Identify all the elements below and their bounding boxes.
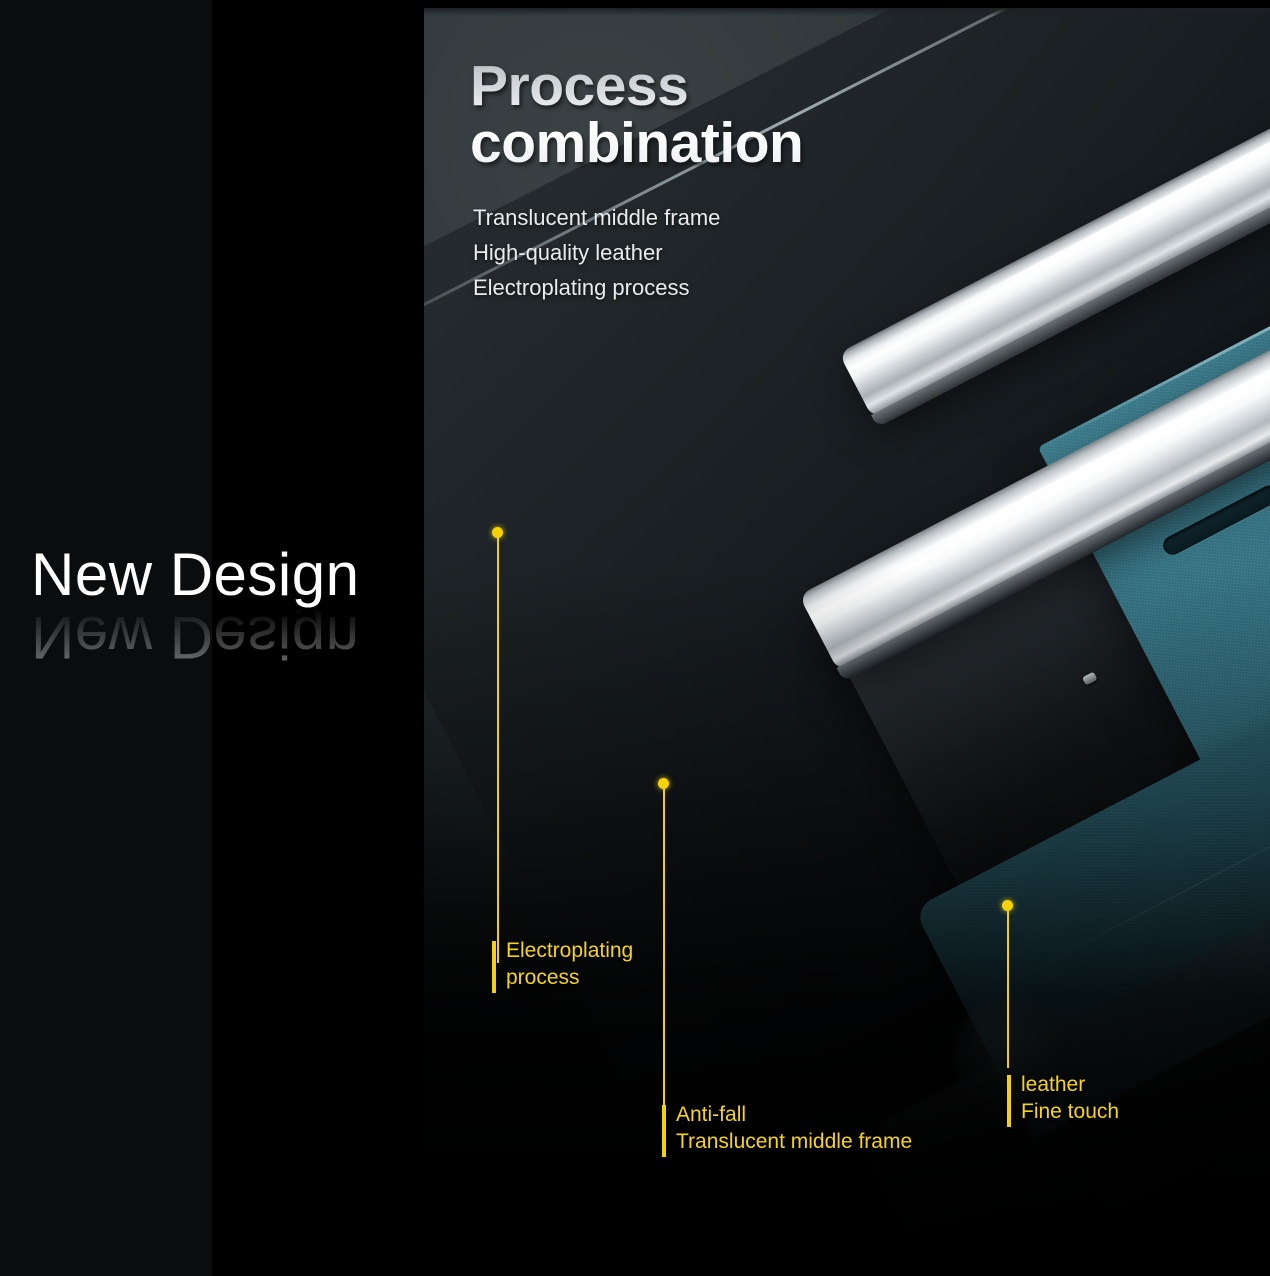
callout-label-leather: leather Fine touch bbox=[1021, 1072, 1119, 1126]
new-design-title-reflection: New Design bbox=[31, 603, 359, 672]
callout-leader-electroplating bbox=[497, 533, 499, 963]
feature-item-0: Translucent middle frame bbox=[473, 200, 893, 235]
callout-leather-line-1: leather bbox=[1021, 1072, 1119, 1099]
callout-anti-fall-line-2: Translucent middle frame bbox=[676, 1129, 912, 1156]
callout-label-anti-fall: Anti-fall Translucent middle frame bbox=[676, 1102, 912, 1156]
product-photo: NEW DESIGN bbox=[424, 8, 1270, 1276]
product-banner: NEW DESIGN Process combination Transluce… bbox=[0, 0, 1270, 1276]
feature-item-2: Electroplating process bbox=[473, 270, 893, 305]
page-title: Process combination bbox=[470, 58, 900, 172]
photo-top-fade bbox=[424, 8, 1270, 16]
feature-list: Translucent middle frame High-quality le… bbox=[473, 200, 893, 306]
callout-leather-line-2: Fine touch bbox=[1021, 1099, 1119, 1126]
callout-electroplating-line-1: Electroplating bbox=[506, 938, 633, 965]
callout-bar-anti-fall bbox=[662, 1105, 666, 1157]
new-design-title: New Design bbox=[31, 540, 359, 609]
callout-leader-anti-fall bbox=[663, 784, 665, 1109]
callout-anti-fall-line-1: Anti-fall bbox=[676, 1102, 912, 1129]
phone-side-button-1 bbox=[1082, 672, 1098, 686]
headline-line-1: Process bbox=[470, 58, 900, 115]
headline-line-2: combination bbox=[470, 115, 900, 172]
callout-label-electroplating: Electroplating process bbox=[506, 938, 633, 992]
callout-bar-electroplating bbox=[492, 941, 496, 993]
callout-electroplating-line-2: process bbox=[506, 965, 633, 992]
callout-leader-leather bbox=[1007, 906, 1009, 1068]
callout-bar-leather bbox=[1007, 1075, 1011, 1127]
feature-item-1: High-quality leather bbox=[473, 235, 893, 270]
